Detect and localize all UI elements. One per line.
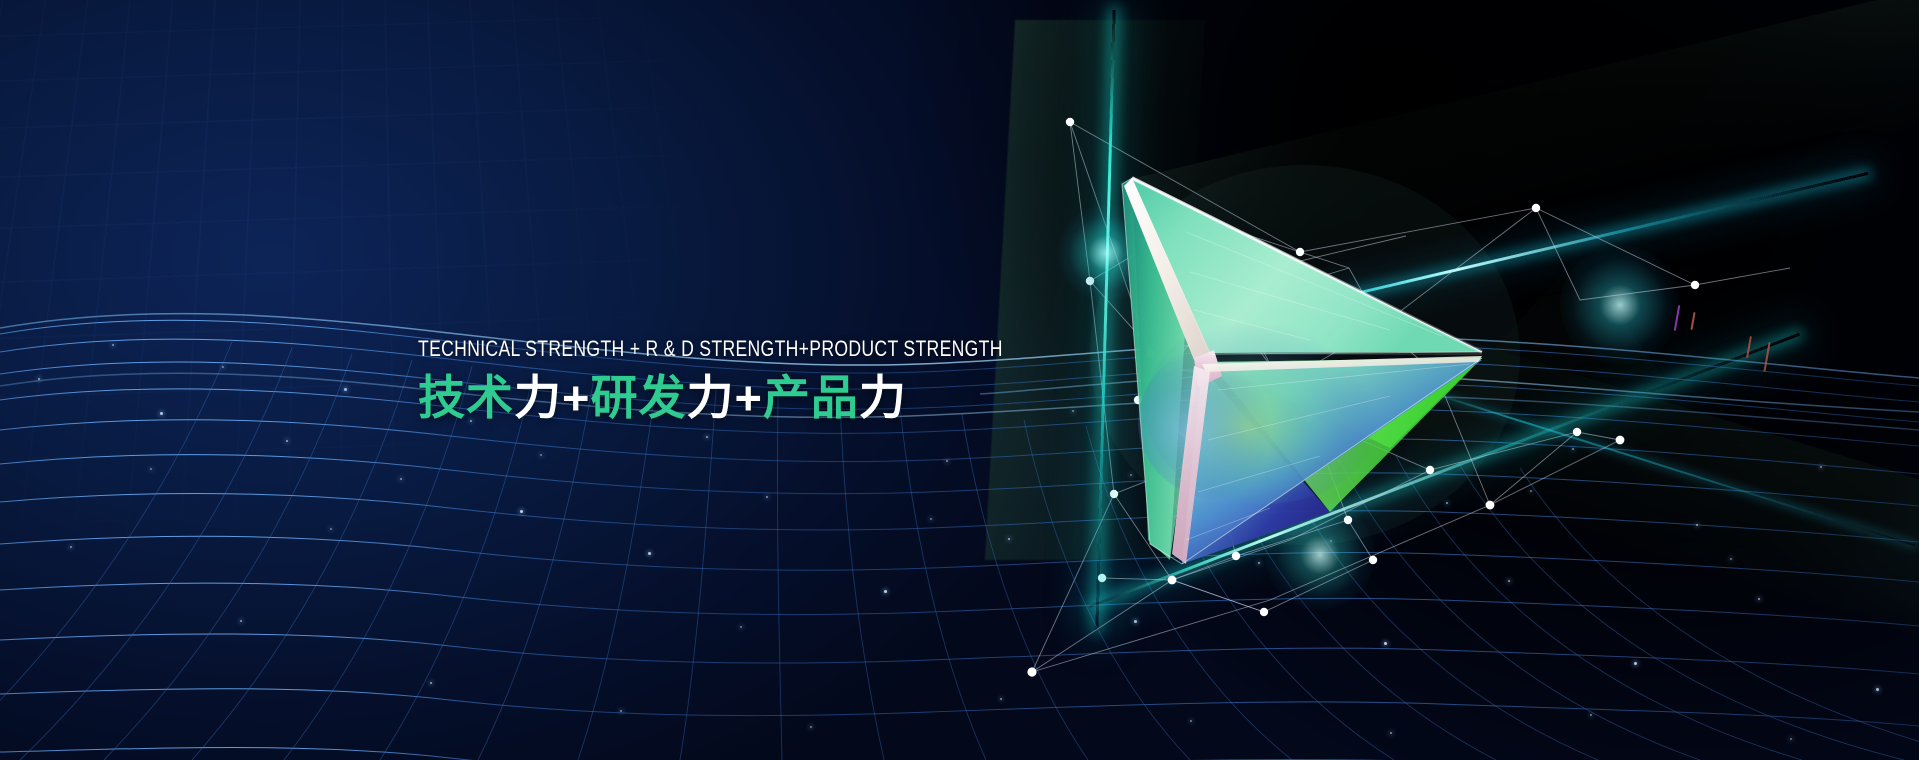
headline-cn-seg-1: 力 <box>514 371 562 424</box>
hero-banner: TECHNICAL STRENGTH + R & D STRENGTH+PROD… <box>0 0 1919 760</box>
headline-cn-seg-2: + <box>562 371 590 424</box>
headline-cn-seg-0: 技术 <box>418 371 514 424</box>
3d-arrow-prism <box>1090 140 1550 590</box>
headline-cn-seg-7: 力 <box>859 371 907 424</box>
headline-english: TECHNICAL STRENGTH + R & D STRENGTH+PROD… <box>418 336 946 362</box>
headline-chinese: 技术力+研发力+产品力 <box>418 368 1078 428</box>
headline-block: TECHNICAL STRENGTH + R & D STRENGTH+PROD… <box>418 336 1078 428</box>
headline-cn-seg-4: 力 <box>686 371 734 424</box>
headline-cn-seg-3: 研发 <box>590 371 686 424</box>
headline-cn-seg-5: + <box>734 371 762 424</box>
headline-cn-seg-6: 产品 <box>763 371 859 424</box>
